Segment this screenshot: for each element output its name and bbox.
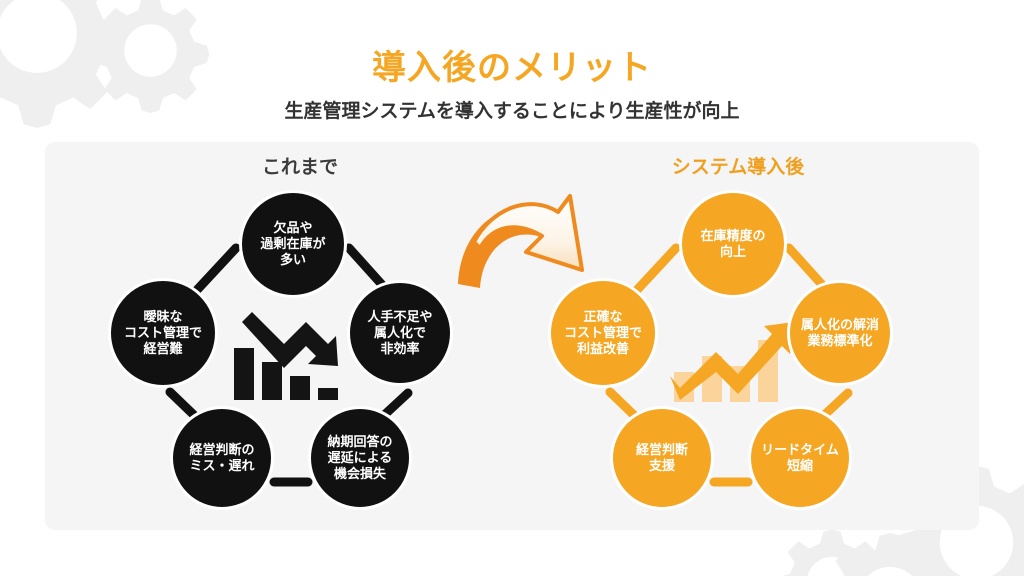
after-node-top-label: 在庫精度の向上	[696, 228, 769, 260]
before-node-right: 人手不足や属人化で非効率	[347, 280, 453, 386]
gear-icon	[772, 522, 892, 576]
page-subtitle: 生産管理システムを導入することにより生産性が向上	[0, 96, 1024, 123]
after-node-bottom-left: 経営判断支援	[610, 406, 714, 510]
curved-arrow-icon	[452, 186, 602, 301]
rising-bar-chart-icon	[668, 300, 798, 410]
after-cycle-diagram: 在庫精度の向上 属人化の解消業務標準化 リードタイム短縮 経営判断支援 正確なコ…	[548, 190, 918, 520]
before-column-label: これまで	[170, 152, 430, 179]
before-node-top-label: 欠品や過剰在庫が多い	[256, 220, 329, 268]
before-node-left-label: 曖昧なコスト管理で経営難	[120, 309, 206, 357]
after-node-right-label: 属人化の解消業務標準化	[797, 317, 883, 349]
declining-bar-chart-icon	[228, 300, 358, 410]
page-title: 導入後のメリット	[0, 40, 1024, 89]
before-node-bottom-left-label: 経営判断のミス・遅れ	[185, 442, 258, 474]
after-column-label: システム導入後	[608, 152, 868, 179]
after-node-left-label: 正確なコスト管理で利益改善	[560, 309, 646, 357]
after-node-bottom-right: リードタイム短縮	[748, 406, 852, 510]
after-node-top: 在庫精度の向上	[679, 190, 787, 298]
slide-canvas: 導入後のメリット 生産管理システムを導入することにより生産性が向上 これまで シ…	[0, 0, 1024, 576]
before-node-left: 曖昧なコスト管理で経営難	[108, 278, 218, 388]
gear-icon	[816, 524, 964, 576]
after-node-right: 属人化の解消業務標準化	[787, 280, 893, 386]
before-node-bottom-left: 経営判断のミス・遅れ	[170, 406, 274, 510]
before-node-bottom-right-label: 納期回答の遅延による機会損失	[323, 434, 396, 482]
after-node-bottom-left-label: 経営判断支援	[632, 442, 692, 474]
before-node-top: 欠品や過剰在庫が多い	[239, 190, 347, 298]
before-cycle-diagram: 欠品や過剰在庫が多い 人手不足や属人化で非効率 納期回答の遅延による機会損失 経…	[108, 190, 478, 520]
before-node-bottom-right: 納期回答の遅延による機会損失	[308, 406, 412, 510]
before-node-right-label: 人手不足や属人化で非効率	[363, 309, 436, 357]
after-node-bottom-right-label: リードタイム短縮	[757, 442, 843, 474]
